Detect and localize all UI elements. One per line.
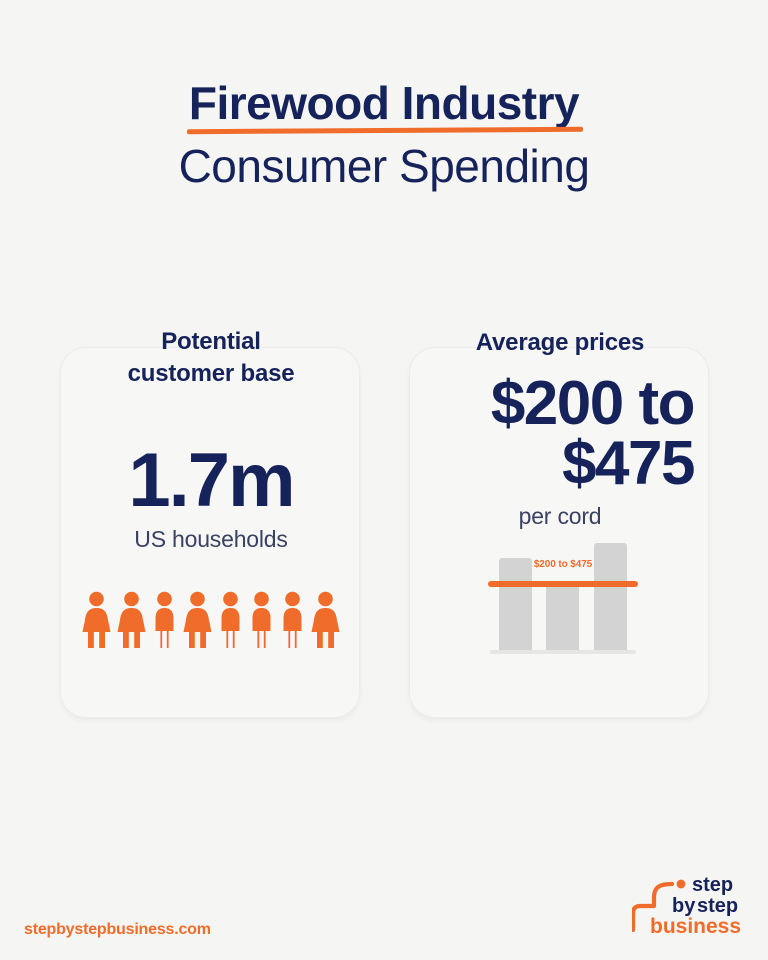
chart-price-range-line [488,581,638,587]
footer-website-url[interactable]: stepbystepbusiness.com [24,921,211,939]
card-potential-customer-base: Potential customer base 1.7m US househol… [60,347,360,718]
card-heading-line-1: Potential [161,328,261,355]
infographic-page: Firewood Industry Consumer Spending Pote… [0,0,768,960]
page-title: Firewood Industry Consumer Spending [0,78,768,192]
title-line1-wrapper: Firewood Industry [189,78,579,130]
logo-word-step-2: step [697,895,738,917]
chart-baseline [490,650,636,654]
card-heading-average-prices: Average prices [410,327,710,359]
brand-logo[interactable]: step by step business [632,872,752,944]
person-male-icon [278,591,307,649]
logo-word-step-1: step [692,874,733,896]
person-female-icon [309,591,342,649]
logo-word-business: business [650,915,741,938]
metric-value-households: 1.7m [61,443,361,519]
card-heading-line-2: customer base [128,360,295,387]
title-line-1: Firewood Industry [189,78,579,130]
chart-bar-2 [546,582,579,650]
person-female-icon [115,591,148,649]
metric-sublabel-households: US households [61,526,361,553]
person-female-icon [80,591,113,649]
mini-bar-chart: $200 to $475 [488,533,638,658]
chart-bar-1 [499,558,532,650]
person-male-icon [216,591,245,649]
metric-value-price-range: $200 to $475 [410,374,710,493]
metric-sublabel-per-cord: per cord [410,503,710,530]
person-male-icon [150,591,179,649]
person-female-icon [181,591,214,649]
logo-word-by: by [672,895,696,917]
person-male-icon [247,591,276,649]
chart-price-range-label: $200 to $475 [488,559,638,570]
title-line-2: Consumer Spending [0,140,768,193]
people-icon-row [61,591,361,649]
card-average-prices: Average prices $200 to $475 per cord $20… [409,347,709,718]
price-value-line-2: $475 [562,429,694,498]
logo-dot-icon [677,880,686,889]
card-heading-potential-customer-base: Potential customer base [61,326,361,390]
